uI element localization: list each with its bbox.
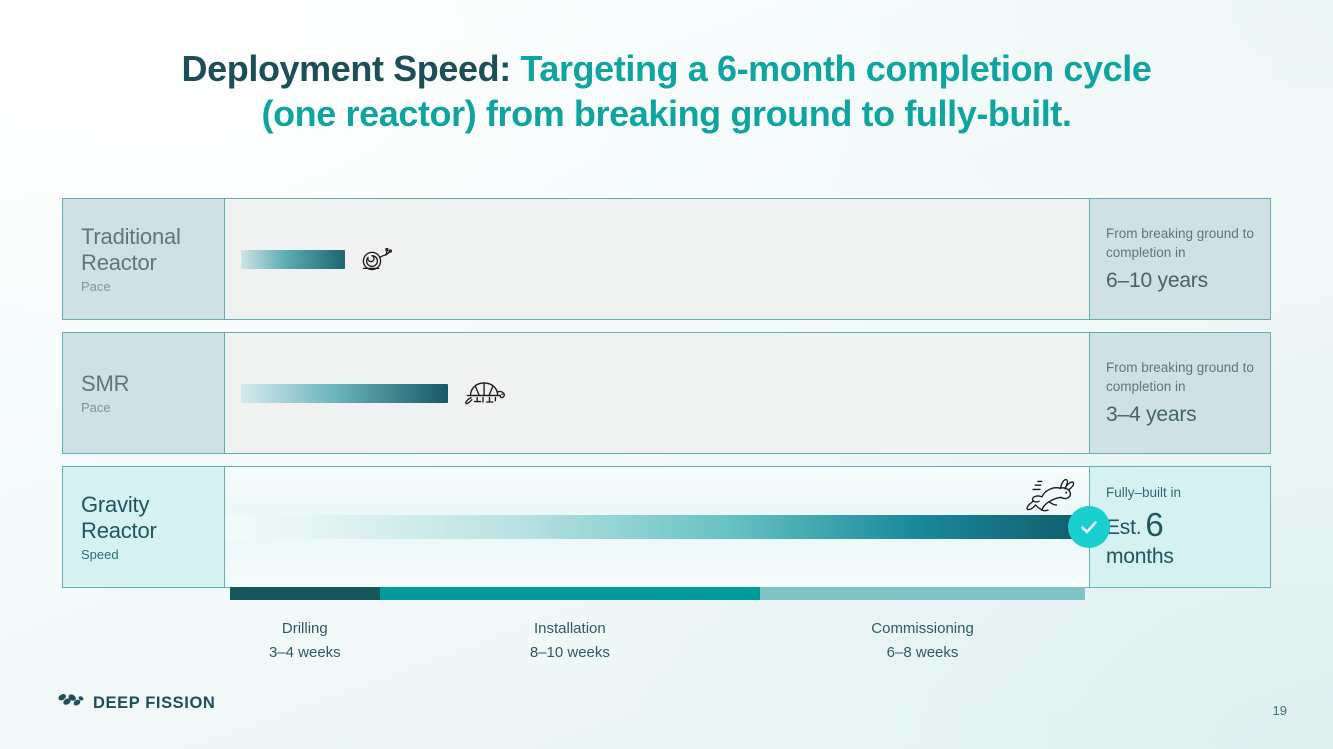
phase-duration: 8–10 weeks [380,641,760,665]
logo-wordmark: DEEP FISSION [93,694,215,713]
estimate-unit: months [1106,545,1256,570]
footer-logo: DEEP FISSION [58,692,215,715]
title-prefix: Deployment Speed: [182,48,511,89]
row-label-gravity-reactor: Gravity Reactor Speed [63,467,225,587]
page-number: 19 [1273,703,1287,718]
title-highlight-1: Targeting a 6-month completion cycle [520,48,1151,89]
comparison-rows: Traditional Reactor Pace F [62,198,1271,600]
rabbit-icon [1019,475,1077,526]
title-line-2: (one reactor) from breaking ground to fu… [0,91,1333,136]
comparison-row-traditional-reactor: Traditional Reactor Pace F [62,198,1271,320]
phase-segment-commissioning [760,587,1085,600]
row-title-line-1: Traditional [81,224,224,250]
estimate-number: 6 [1141,506,1163,543]
title-line-1: Deployment Speed: Targeting a 6-month co… [0,46,1333,91]
row-track-gravity-reactor [225,467,1089,587]
row-sublabel: Pace [81,400,224,415]
row-title-line-1: Gravity [81,492,224,518]
slide-title: Deployment Speed: Targeting a 6-month co… [0,46,1333,137]
comparison-row-gravity-reactor: Gravity Reactor Speed [62,466,1271,588]
row-sublabel: Pace [81,279,224,294]
phase-name: Commissioning [760,617,1085,641]
row-info-value: 6–10 years [1106,269,1256,293]
phase-legend: Drilling 3–4 weeks Installation 8–10 wee… [230,587,1085,666]
check-icon [1078,516,1100,538]
turtle-icon [462,376,508,410]
row-title-line-2: Reactor [81,250,224,276]
row-track-smr [225,333,1089,453]
phase-name: Drilling [230,617,380,641]
progress-bar-traditional-reactor [241,250,345,269]
row-label-smr: SMR Pace [63,333,225,453]
phase-label-drilling: Drilling 3–4 weeks [230,617,380,666]
row-title-line-2: Reactor [81,518,224,544]
completed-check-badge [1068,506,1110,548]
row-info-caption: From breaking ground to completion in [1106,359,1256,396]
phase-duration: 6–8 weeks [760,641,1085,665]
row-label-traditional-reactor: Traditional Reactor Pace [63,199,225,319]
row-track-traditional-reactor [225,199,1089,319]
estimate-prefix: Est. [1106,516,1141,539]
progress-bar-gravity-reactor [225,515,1089,539]
row-sublabel: Speed [81,547,224,562]
row-info-gravity-reactor: Fully–built in Est.6 months [1089,467,1270,587]
row-info-caption: Fully–built in [1106,484,1256,503]
row-info-caption: From breaking ground to completion in [1106,225,1256,262]
row-info-value: 3–4 years [1106,403,1256,427]
phase-label-commissioning: Commissioning 6–8 weeks [760,617,1085,666]
row-info-traditional-reactor: From breaking ground to completion in 6–… [1089,199,1270,319]
row-title-line-1: SMR [81,371,224,397]
phase-name: Installation [380,617,760,641]
progress-bar-smr [241,384,448,403]
row-info-smr: From breaking ground to completion in 3–… [1089,333,1270,453]
snail-icon [359,246,393,272]
deep-fission-logo-icon [58,692,84,715]
phase-label-installation: Installation 8–10 weeks [380,617,760,666]
phase-segment-installation [380,587,760,600]
phase-segment-drilling [230,587,380,600]
phase-legend-bar [230,587,1085,600]
phase-legend-labels: Drilling 3–4 weeks Installation 8–10 wee… [230,617,1085,666]
atom-chain-icon [58,692,84,710]
row-info-value: Est.6 months [1106,506,1256,570]
phase-duration: 3–4 weeks [230,641,380,665]
comparison-row-smr: SMR Pace From breaking ground to c [62,332,1271,454]
